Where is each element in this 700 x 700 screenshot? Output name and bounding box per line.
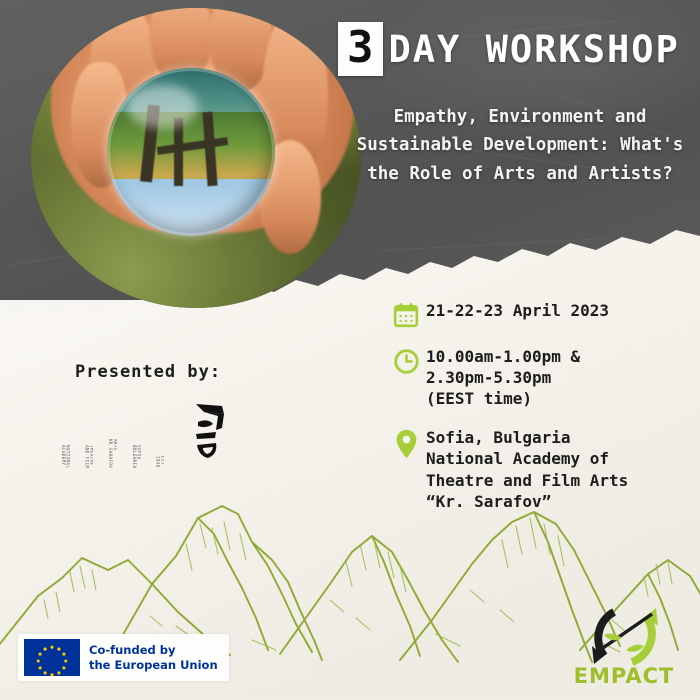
hero-photo-lensball [31,8,361,308]
partner-vertical-text: THEATRE AND FILM [84,445,94,468]
event-details: 21-22-23 April 2023 10.00am-1.00pm & 2.3… [386,300,686,530]
detail-row-time: 10.00am-1.00pm & 2.30pm-5.30pm (EEST tim… [386,346,686,409]
page-title: DAY WORKSHOP [389,28,680,71]
event-date: 21-22-23 April 2023 [426,300,609,321]
partner-vertical-text: NATIONAL ACADEMY [60,445,70,468]
partner-vertical-text: SOFIA BULGARIA [131,445,141,468]
event-time: 10.00am-1.00pm & 2.30pm-5.30pm (EEST tim… [426,346,580,409]
location-pin-icon [386,427,426,459]
poster-subtitle: Empathy, Environment and Sustainable Dev… [352,103,688,188]
empact-logo: EMPACT [560,604,688,692]
title-row: 3 DAY WORKSHOP [338,22,680,76]
poster-canvas: 3 DAY WORKSHOP Empathy, Environment and … [0,0,700,700]
detail-row-date: 21-22-23 April 2023 [386,300,686,328]
eu-funding-text: Co-funded by the European Union [89,643,218,672]
theatre-mask-logo [182,400,228,468]
partner-logo-group: NATIONAL ACADEMY THEATRE AND FILM ARTS K… [60,398,270,468]
calendar-icon [386,300,426,328]
clock-icon [386,346,426,375]
lens-ball [107,68,275,236]
partner-vertical-text: EST 1948 [155,456,165,468]
presented-by-label: Presented by: [75,362,221,382]
empact-wordmark: EMPACT [560,664,688,688]
eu-flag-icon [24,639,80,676]
eu-funding-badge: Co-funded by the European Union [18,634,229,681]
day-count-badge: 3 [338,22,383,76]
partner-vertical-text: ARTS KR SARAFOV [107,439,117,468]
